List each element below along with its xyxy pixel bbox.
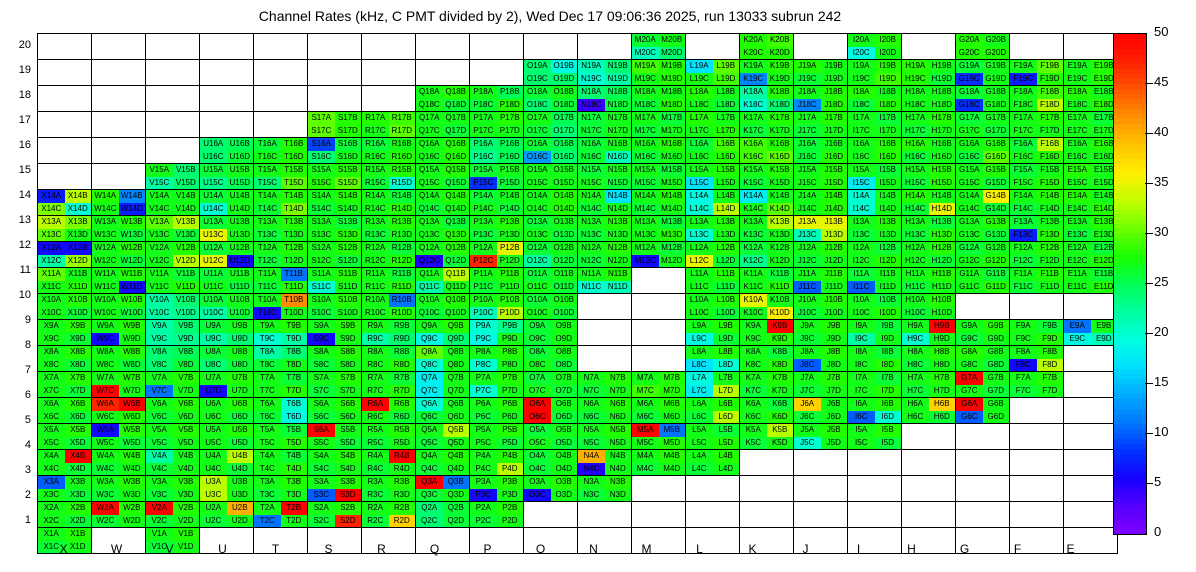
heatmap-cell[interactable]: S3AS3BS3CS3D	[308, 476, 362, 502]
heatmap-cell[interactable]	[956, 476, 1010, 502]
heatmap-cell[interactable]	[956, 450, 1010, 476]
heatmap-cell[interactable]: U11AU11BU11CU11D	[200, 268, 254, 294]
heatmap-cell[interactable]	[1064, 346, 1118, 372]
heatmap-cell[interactable]	[740, 450, 794, 476]
heatmap-cell[interactable]: R16AR16BR16CR16D	[362, 138, 416, 164]
heatmap-cell[interactable]: E14AE14BE14CE14D	[1064, 190, 1118, 216]
heatmap-cell[interactable]: R10AR10BR10CR10D	[362, 294, 416, 320]
heatmap-cell[interactable]: I14AI14BI14CI14D	[848, 190, 902, 216]
heatmap-cell[interactable]: E9AE9BE9CE9D	[1064, 320, 1118, 346]
heatmap-cell[interactable]: M16AM16BM16CM16D	[632, 138, 686, 164]
heatmap-cell[interactable]	[254, 112, 308, 138]
heatmap-cell[interactable]: S9AS9BS9CS9D	[308, 320, 362, 346]
heatmap-cell[interactable]: N19AN19BN19CN19D	[578, 60, 632, 86]
heatmap-cell[interactable]: U14AU14BU14CU14D	[200, 190, 254, 216]
heatmap-cell[interactable]: H15AH15BH15CH15D	[902, 164, 956, 190]
heatmap-cell[interactable]: W2AW2BW2CW2D	[92, 502, 146, 528]
heatmap-cell[interactable]: I9AI9BI9CI9D	[848, 320, 902, 346]
heatmap-cell[interactable]: G12AG12BG12CG12D	[956, 242, 1010, 268]
heatmap-cell[interactable]	[362, 86, 416, 112]
heatmap-cell[interactable]: I19AI19BI19CI19D	[848, 60, 902, 86]
heatmap-cell[interactable]: V8AV8BV8CV8D	[146, 346, 200, 372]
heatmap-cell[interactable]: O5AO5BO5CO5D	[524, 424, 578, 450]
heatmap-cell[interactable]: O13AO13BO13CO13D	[524, 216, 578, 242]
heatmap-cell[interactable]	[38, 112, 92, 138]
heatmap-cell[interactable]: V11AV11BV11CV11D	[146, 268, 200, 294]
heatmap-cell[interactable]: P18AP18BP18CP18D	[470, 86, 524, 112]
heatmap-cell[interactable]	[578, 502, 632, 528]
heatmap-cell[interactable]: P2AP2BP2CP2D	[470, 502, 524, 528]
heatmap-cell[interactable]	[254, 86, 308, 112]
heatmap-cell[interactable]: F15AF15BF15CF15D	[1010, 164, 1064, 190]
heatmap-cell[interactable]: Q14AQ14BQ14CQ14D	[416, 190, 470, 216]
heatmap-cell[interactable]: X2AX2BX2CX2D	[38, 502, 92, 528]
heatmap-cell[interactable]	[1064, 424, 1118, 450]
heatmap-cell[interactable]: X14AX14BX14CX14D	[38, 190, 92, 216]
heatmap-cell[interactable]	[92, 164, 146, 190]
heatmap-cell[interactable]: P3AP3BP3CP3D	[470, 476, 524, 502]
heatmap-cell[interactable]: P16AP16BP16CP16D	[470, 138, 524, 164]
heatmap-cell[interactable]: I6AI6BI6CI6D	[848, 398, 902, 424]
heatmap-cell[interactable]: K17AK17BK17CK17D	[740, 112, 794, 138]
heatmap-cell[interactable]: K16AK16BK16CK16D	[740, 138, 794, 164]
heatmap-cell[interactable]: O16AO16BO16CO16D	[524, 138, 578, 164]
heatmap-cell[interactable]: T16AT16BT16CT16D	[254, 138, 308, 164]
heatmap-cell[interactable]: R4AR4BR4CR4D	[362, 450, 416, 476]
heatmap-cell[interactable]	[686, 502, 740, 528]
heatmap-cell[interactable]: R6AR6BR6CR6D	[362, 398, 416, 424]
heatmap-cell[interactable]: I13AI13BI13CI13D	[848, 216, 902, 242]
heatmap-cell[interactable]: P13AP13BP13CP13D	[470, 216, 524, 242]
heatmap-cell[interactable]: R5AR5BR5CR5D	[362, 424, 416, 450]
heatmap-cell[interactable]: O8AO8BO8CO8D	[524, 346, 578, 372]
heatmap-cell[interactable]: V6AV6BV6CV6D	[146, 398, 200, 424]
heatmap-cell[interactable]: P9AP9BP9CP9D	[470, 320, 524, 346]
heatmap-cell[interactable]: W14AW14BW14CW14D	[92, 190, 146, 216]
heatmap-cell[interactable]: G11AG11BG11CG11D	[956, 268, 1010, 294]
heatmap-cell[interactable]	[92, 86, 146, 112]
heatmap-cell[interactable]: U10AU10BU10CU10D	[200, 294, 254, 320]
heatmap-cell[interactable]: V9AV9BV9CV9D	[146, 320, 200, 346]
heatmap-cell[interactable]: H7AH7BH7CH7D	[902, 372, 956, 398]
heatmap-cell[interactable]: N13AN13BN13CN13D	[578, 216, 632, 242]
heatmap-cell[interactable]	[254, 34, 308, 60]
heatmap-cell[interactable]: Q9AQ9BQ9CQ9D	[416, 320, 470, 346]
heatmap-cell[interactable]: I5AI5BI5CI5D	[848, 424, 902, 450]
heatmap-cell[interactable]: J15AJ15BJ15CJ15D	[794, 164, 848, 190]
heatmap-cell[interactable]: X9AX9BX9CX9D	[38, 320, 92, 346]
heatmap-cell[interactable]: F13AF13BF13CF13D	[1010, 216, 1064, 242]
heatmap-cell[interactable]: R9AR9BR9CR9D	[362, 320, 416, 346]
heatmap-cell[interactable]: V4AV4BV4CV4D	[146, 450, 200, 476]
heatmap-cell[interactable]	[902, 450, 956, 476]
heatmap-cell[interactable]	[1064, 398, 1118, 424]
heatmap-cell[interactable]: J19AJ19BJ19CJ19D	[794, 60, 848, 86]
heatmap-cell[interactable]: H8AH8BH8CH8D	[902, 346, 956, 372]
heatmap-cell[interactable]	[1010, 424, 1064, 450]
heatmap-cell[interactable]: Q18AQ18BQ18CQ18D	[416, 86, 470, 112]
heatmap-cell[interactable]: J18AJ18BJ18CJ18D	[794, 86, 848, 112]
heatmap-cell[interactable]: I15AI15BI15CI15D	[848, 164, 902, 190]
heatmap-cell[interactable]: I11AI11BI11CI11D	[848, 268, 902, 294]
heatmap-cell[interactable]	[794, 34, 848, 60]
heatmap-cell[interactable]: L7AL7BL7CL7D	[686, 372, 740, 398]
heatmap-cell[interactable]	[308, 60, 362, 86]
heatmap-cell[interactable]: S13AS13BS13CS13D	[308, 216, 362, 242]
heatmap-cell[interactable]: M19AM19BM19CM19D	[632, 60, 686, 86]
heatmap-cell[interactable]	[848, 476, 902, 502]
heatmap-cell[interactable]	[956, 424, 1010, 450]
heatmap-cell[interactable]: Q7AQ7BQ7CQ7D	[416, 372, 470, 398]
heatmap-cell[interactable]	[1010, 34, 1064, 60]
heatmap-cell[interactable]	[902, 502, 956, 528]
heatmap-cell[interactable]: G20AG20BG20CG20D	[956, 34, 1010, 60]
heatmap-cell[interactable]: M17AM17BM17CM17D	[632, 112, 686, 138]
heatmap-cell[interactable]	[146, 60, 200, 86]
heatmap-cell[interactable]: G8AG8BG8CG8D	[956, 346, 1010, 372]
heatmap-cell[interactable]: P4AP4BP4CP4D	[470, 450, 524, 476]
heatmap-cell[interactable]: R11AR11BR11CR11D	[362, 268, 416, 294]
heatmap-cell[interactable]: L4AL4BL4CL4D	[686, 450, 740, 476]
heatmap-cell[interactable]: O12AO12BO12CO12D	[524, 242, 578, 268]
heatmap-cell[interactable]	[740, 476, 794, 502]
heatmap-cell[interactable]: V2AV2BV2CV2D	[146, 502, 200, 528]
heatmap-cell[interactable]	[38, 86, 92, 112]
heatmap-cell[interactable]	[794, 450, 848, 476]
heatmap-cell[interactable]: Q5AQ5BQ5CQ5D	[416, 424, 470, 450]
heatmap-cell[interactable]: S12AS12BS12CS12D	[308, 242, 362, 268]
heatmap-cell[interactable]	[632, 320, 686, 346]
heatmap-cell[interactable]	[308, 86, 362, 112]
heatmap-cell[interactable]: R3AR3BR3CR3D	[362, 476, 416, 502]
heatmap-cell[interactable]: O4AO4BO4CO4D	[524, 450, 578, 476]
heatmap-cell[interactable]: S14AS14BS14CS14D	[308, 190, 362, 216]
heatmap-cell[interactable]: Q15AQ15BQ15CQ15D	[416, 164, 470, 190]
heatmap-cell[interactable]: L8AL8BL8CL8D	[686, 346, 740, 372]
heatmap-cell[interactable]: K7AK7BK7CK7D	[740, 372, 794, 398]
heatmap-cell[interactable]: V3AV3BV3CV3D	[146, 476, 200, 502]
heatmap-cell[interactable]: M12AM12BM12CM12D	[632, 242, 686, 268]
heatmap-cell[interactable]	[578, 346, 632, 372]
heatmap-cell[interactable]: K8AK8BK8CK8D	[740, 346, 794, 372]
heatmap-cell[interactable]	[416, 34, 470, 60]
heatmap-cell[interactable]: R13AR13BR13CR13D	[362, 216, 416, 242]
heatmap-cell[interactable]: M14AM14BM14CM14D	[632, 190, 686, 216]
heatmap-cell[interactable]: K11AK11BK11CK11D	[740, 268, 794, 294]
heatmap-cell[interactable]: N16AN16BN16CN16D	[578, 138, 632, 164]
heatmap-cell[interactable]: S6AS6BS6CS6D	[308, 398, 362, 424]
heatmap-cell[interactable]: V7AV7BV7CV7D	[146, 372, 200, 398]
heatmap-cell[interactable]: K6AK6BK6CK6D	[740, 398, 794, 424]
heatmap-cell[interactable]: E17AE17BE17CE17D	[1064, 112, 1118, 138]
heatmap-cell[interactable]	[1010, 502, 1064, 528]
heatmap-cell[interactable]: L10AL10BL10CL10D	[686, 294, 740, 320]
heatmap-cell[interactable]: O10AO10BO10CO10D	[524, 294, 578, 320]
heatmap-cell[interactable]	[146, 34, 200, 60]
heatmap-cell[interactable]	[1064, 34, 1118, 60]
heatmap-cell[interactable]	[38, 138, 92, 164]
heatmap-cell[interactable]: W8AW8BW8CW8D	[92, 346, 146, 372]
heatmap-cell[interactable]	[146, 86, 200, 112]
heatmap-cell[interactable]	[794, 476, 848, 502]
heatmap-cell[interactable]: S10AS10BS10CS10D	[308, 294, 362, 320]
heatmap-cell[interactable]: L19AL19BL19CL19D	[686, 60, 740, 86]
heatmap-cell[interactable]	[92, 34, 146, 60]
heatmap-cell[interactable]: Q17AQ17BQ17CQ17D	[416, 112, 470, 138]
heatmap-cell[interactable]: F17AF17BF17CF17D	[1010, 112, 1064, 138]
heatmap-cell[interactable]: G18AG18BG18CG18D	[956, 86, 1010, 112]
heatmap-cell[interactable]: G16AG16BG16CG16D	[956, 138, 1010, 164]
heatmap-cell[interactable]: N17AN17BN17CN17D	[578, 112, 632, 138]
heatmap-cell[interactable]: W10AW10BW10CW10D	[92, 294, 146, 320]
heatmap-cell[interactable]	[1010, 398, 1064, 424]
heatmap-cell[interactable]: T15AT15BT15CT15D	[254, 164, 308, 190]
heatmap-cell[interactable]: H11AH11BH11CH11D	[902, 268, 956, 294]
heatmap-cell[interactable]: R12AR12BR12CR12D	[362, 242, 416, 268]
heatmap-cell[interactable]: I7AI7BI7CI7D	[848, 372, 902, 398]
heatmap-cell[interactable]: F7AF7BF7CF7D	[1010, 372, 1064, 398]
heatmap-cell[interactable]: K9AK9BK9CK9D	[740, 320, 794, 346]
heatmap-cell[interactable]: O6AO6BO6CO6D	[524, 398, 578, 424]
heatmap-cell[interactable]: N15AN15BN15CN15D	[578, 164, 632, 190]
heatmap-cell[interactable]: P14AP14BP14CP14D	[470, 190, 524, 216]
heatmap-cell[interactable]: O14AO14BO14CO14D	[524, 190, 578, 216]
heatmap-cell[interactable]: X8AX8BX8CX8D	[38, 346, 92, 372]
heatmap-cell[interactable]: H13AH13BH13CH13D	[902, 216, 956, 242]
heatmap-cell[interactable]: T3AT3BT3CT3D	[254, 476, 308, 502]
heatmap-cell[interactable]: T12AT12BT12CT12D	[254, 242, 308, 268]
heatmap-cell[interactable]: N4AN4BN4CN4D	[578, 450, 632, 476]
heatmap-cell[interactable]: W4AW4BW4CW4D	[92, 450, 146, 476]
heatmap-cell[interactable]: F18AF18BF18CF18D	[1010, 86, 1064, 112]
heatmap-cell[interactable]: W5AW5BW5CW5D	[92, 424, 146, 450]
heatmap-cell[interactable]: U8AU8BU8CU8D	[200, 346, 254, 372]
heatmap-cell[interactable]: I10AI10BI10CI10D	[848, 294, 902, 320]
heatmap-cell[interactable]: W7AW7BW7CW7D	[92, 372, 146, 398]
heatmap-cell[interactable]	[38, 164, 92, 190]
heatmap-cell[interactable]: O11AO11BO11CO11D	[524, 268, 578, 294]
heatmap-cell[interactable]	[92, 112, 146, 138]
heatmap-cell[interactable]: O7AO7BO7CO7D	[524, 372, 578, 398]
heatmap-cell[interactable]: T13AT13BT13CT13D	[254, 216, 308, 242]
heatmap-cell[interactable]	[686, 476, 740, 502]
heatmap-cell[interactable]: G7AG7BG7CG7D	[956, 372, 1010, 398]
heatmap-cell[interactable]: E13AE13BE13CE13D	[1064, 216, 1118, 242]
heatmap-cell[interactable]: U12AU12BU12CU12D	[200, 242, 254, 268]
heatmap-cell[interactable]	[848, 502, 902, 528]
heatmap-cell[interactable]: V10AV10BV10CV10D	[146, 294, 200, 320]
heatmap-cell[interactable]: Q2AQ2BQ2CQ2D	[416, 502, 470, 528]
heatmap-cell[interactable]: N11AN11BN11CN11D	[578, 268, 632, 294]
heatmap-cell[interactable]: W13AW13BW13CW13D	[92, 216, 146, 242]
heatmap-cell[interactable]	[1010, 294, 1064, 320]
heatmap-cell[interactable]: K15AK15BK15CK15D	[740, 164, 794, 190]
heatmap-cell[interactable]: O17AO17BO17CO17D	[524, 112, 578, 138]
heatmap-cell[interactable]	[902, 34, 956, 60]
heatmap-cell[interactable]: X11AX11BX11CX11D	[38, 268, 92, 294]
heatmap-cell[interactable]: M13AM13BM13CM13D	[632, 216, 686, 242]
heatmap-cell[interactable]: J8AJ8BJ8CJ8D	[794, 346, 848, 372]
heatmap-cell[interactable]	[902, 424, 956, 450]
heatmap-cell[interactable]: Q4AQ4BQ4CQ4D	[416, 450, 470, 476]
heatmap-cell[interactable]: F19AF19BF19CF19D	[1010, 60, 1064, 86]
heatmap-cell[interactable]: S2AS2BS2CS2D	[308, 502, 362, 528]
heatmap-cell[interactable]: F14AF14BF14CF14D	[1010, 190, 1064, 216]
heatmap-cell[interactable]	[362, 60, 416, 86]
heatmap-cell[interactable]: J12AJ12BJ12CJ12D	[794, 242, 848, 268]
heatmap-cell[interactable]: K5AK5BK5CK5D	[740, 424, 794, 450]
heatmap-cell[interactable]: K12AK12BK12CK12D	[740, 242, 794, 268]
heatmap-cell[interactable]	[362, 34, 416, 60]
heatmap-cell[interactable]: L6AL6BL6CL6D	[686, 398, 740, 424]
heatmap-cell[interactable]: N18AN18BN18CN18D	[578, 86, 632, 112]
heatmap-cell[interactable]	[578, 294, 632, 320]
heatmap-cell[interactable]: T11AT11BT11CT11D	[254, 268, 308, 294]
heatmap-cell[interactable]: P5AP5BP5CP5D	[470, 424, 524, 450]
heatmap-cell[interactable]: P6AP6BP6CP6D	[470, 398, 524, 424]
heatmap-cell[interactable]: P15AP15BP15CP15D	[470, 164, 524, 190]
heatmap-cell[interactable]: I20AI20BI20CI20D	[848, 34, 902, 60]
heatmap-cell[interactable]: L17AL17BL17CL17D	[686, 112, 740, 138]
heatmap-cell[interactable]: I18AI18BI18CI18D	[848, 86, 902, 112]
heatmap-cell[interactable]: S15AS15BS15CS15D	[308, 164, 362, 190]
heatmap-cell[interactable]: G19AG19BG19CG19D	[956, 60, 1010, 86]
heatmap-cell[interactable]: U4AU4BU4CU4D	[200, 450, 254, 476]
heatmap-cell[interactable]: M15AM15BM15CM15D	[632, 164, 686, 190]
heatmap-cell[interactable]: U3AU3BU3CU3D	[200, 476, 254, 502]
heatmap-cell[interactable]: M6AM6BM6CM6D	[632, 398, 686, 424]
heatmap-cell[interactable]: N5AN5BN5CN5D	[578, 424, 632, 450]
heatmap-cell[interactable]: P8AP8BP8CP8D	[470, 346, 524, 372]
heatmap-cell[interactable]: H17AH17BH17CH17D	[902, 112, 956, 138]
heatmap-cell[interactable]	[38, 34, 92, 60]
heatmap-cell[interactable]: E18AE18BE18CE18D	[1064, 86, 1118, 112]
heatmap-cell[interactable]: N6AN6BN6CN6D	[578, 398, 632, 424]
heatmap-cell[interactable]	[632, 294, 686, 320]
heatmap-cell[interactable]: R8AR8BR8CR8D	[362, 346, 416, 372]
heatmap-cell[interactable]	[578, 320, 632, 346]
heatmap-cell[interactable]: E19AE19BE19CE19D	[1064, 60, 1118, 86]
heatmap-cell[interactable]	[956, 502, 1010, 528]
heatmap-cell[interactable]: I16AI16BI16CI16D	[848, 138, 902, 164]
heatmap-cell[interactable]: L13AL13BL13CL13D	[686, 216, 740, 242]
heatmap-cell[interactable]: V13AV13BV13CV13D	[146, 216, 200, 242]
heatmap-cell[interactable]: U5AU5BU5CU5D	[200, 424, 254, 450]
heatmap-cell[interactable]	[632, 502, 686, 528]
heatmap-cell[interactable]: J10AJ10BJ10CJ10D	[794, 294, 848, 320]
heatmap-cell[interactable]: P11AP11BP11CP11D	[470, 268, 524, 294]
heatmap-cell[interactable]	[92, 138, 146, 164]
heatmap-cell[interactable]: L14AL14BL14CL14D	[686, 190, 740, 216]
heatmap-cell[interactable]: U13AU13BU13CU13D	[200, 216, 254, 242]
heatmap-cell[interactable]: G17AG17BG17CG17D	[956, 112, 1010, 138]
heatmap-cell[interactable]: Q13AQ13BQ13CQ13D	[416, 216, 470, 242]
heatmap-cell[interactable]	[524, 502, 578, 528]
heatmap-cell[interactable]: V15AV15BV15CV15D	[146, 164, 200, 190]
heatmap-cell[interactable]: U2AU2BU2CU2D	[200, 502, 254, 528]
heatmap-cell[interactable]: J17AJ17BJ17CJ17D	[794, 112, 848, 138]
heatmap-cell[interactable]: K18AK18BK18CK18D	[740, 86, 794, 112]
heatmap-cell[interactable]: T10AT10BT10CT10D	[254, 294, 308, 320]
heatmap-cell[interactable]: S4AS4BS4CS4D	[308, 450, 362, 476]
heatmap-cell[interactable]: M4AM4BM4CM4D	[632, 450, 686, 476]
heatmap-cell[interactable]: Q6AQ6BQ6CQ6D	[416, 398, 470, 424]
heatmap-cell[interactable]: H6AH6BH6CH6D	[902, 398, 956, 424]
heatmap-cell[interactable]: N7AN7BN7CN7D	[578, 372, 632, 398]
heatmap-cell[interactable]: J14AJ14BJ14CJ14D	[794, 190, 848, 216]
heatmap-cell[interactable]: W9AW9BW9CW9D	[92, 320, 146, 346]
heatmap-cell[interactable]: S11AS11BS11CS11D	[308, 268, 362, 294]
heatmap-cell[interactable]: V14AV14BV14CV14D	[146, 190, 200, 216]
heatmap-cell[interactable]: F9AF9BF9CF9D	[1010, 320, 1064, 346]
heatmap-cell[interactable]: L15AL15BL15CL15D	[686, 164, 740, 190]
heatmap-cell[interactable]: T5AT5BT5CT5D	[254, 424, 308, 450]
heatmap-cell[interactable]: I12AI12BI12CI12D	[848, 242, 902, 268]
heatmap-cell[interactable]: X10AX10BX10CX10D	[38, 294, 92, 320]
heatmap-cell[interactable]: O19AO19BO19CO19D	[524, 60, 578, 86]
heatmap-cell[interactable]: E16AE16BE16CE16D	[1064, 138, 1118, 164]
heatmap-cell[interactable]: U6AU6BU6CU6D	[200, 398, 254, 424]
heatmap-cell[interactable]	[686, 34, 740, 60]
heatmap-cell[interactable]	[794, 502, 848, 528]
heatmap-cell[interactable]: G9AG9BG9CG9D	[956, 320, 1010, 346]
heatmap-cell[interactable]: L9AL9BL9CL9D	[686, 320, 740, 346]
heatmap-cell[interactable]	[200, 34, 254, 60]
heatmap-cell[interactable]: L11AL11BL11CL11D	[686, 268, 740, 294]
heatmap-cell[interactable]	[1064, 502, 1118, 528]
heatmap-cell[interactable]	[848, 450, 902, 476]
heatmap-cell[interactable]: T8AT8BT8CT8D	[254, 346, 308, 372]
heatmap-cell[interactable]: H18AH18BH18CH18D	[902, 86, 956, 112]
heatmap-cell[interactable]: G6AG6BG6CG6D	[956, 398, 1010, 424]
heatmap-cell[interactable]: K19AK19BK19CK19D	[740, 60, 794, 86]
heatmap-cell[interactable]: Q16AQ16BQ16CQ16D	[416, 138, 470, 164]
heatmap-cell[interactable]	[200, 86, 254, 112]
heatmap-cell[interactable]	[200, 112, 254, 138]
heatmap-cell[interactable]: S5AS5BS5CS5D	[308, 424, 362, 450]
heatmap-cell[interactable]: E11AE11BE11CE11D	[1064, 268, 1118, 294]
heatmap-cell[interactable]: N12AN12BN12CN12D	[578, 242, 632, 268]
heatmap-cell[interactable]	[146, 138, 200, 164]
heatmap-cell[interactable]	[632, 476, 686, 502]
heatmap-cell[interactable]: T6AT6BT6CT6D	[254, 398, 308, 424]
heatmap-cell[interactable]: U7AU7BU7CU7D	[200, 372, 254, 398]
heatmap-cell[interactable]: F12AF12BF12CF12D	[1010, 242, 1064, 268]
heatmap-cell[interactable]	[1064, 450, 1118, 476]
heatmap-cell[interactable]	[470, 60, 524, 86]
heatmap-cell[interactable]: I17AI17BI17CI17D	[848, 112, 902, 138]
heatmap-cell[interactable]	[740, 502, 794, 528]
heatmap-cell[interactable]: W6AW6BW6CW6D	[92, 398, 146, 424]
heatmap-cell[interactable]	[92, 60, 146, 86]
heatmap-cell[interactable]: U15AU15BU15CU15D	[200, 164, 254, 190]
heatmap-cell[interactable]: G13AG13BG13CG13D	[956, 216, 1010, 242]
heatmap-cell[interactable]: V5AV5BV5CV5D	[146, 424, 200, 450]
heatmap-cell[interactable]: M18AM18BM18CM18D	[632, 86, 686, 112]
heatmap-cell[interactable]: G15AG15BG15CG15D	[956, 164, 1010, 190]
heatmap-cell[interactable]: O18AO18BO18CO18D	[524, 86, 578, 112]
heatmap-cell[interactable]: L18AL18BL18CL18D	[686, 86, 740, 112]
heatmap-cell[interactable]: X12AX12BX12CX12D	[38, 242, 92, 268]
heatmap-cell[interactable]: O15AO15BO15CO15D	[524, 164, 578, 190]
heatmap-cell[interactable]: O9AO9BO9CO9D	[524, 320, 578, 346]
heatmap-cell[interactable]: H14AH14BH14CH14D	[902, 190, 956, 216]
heatmap-cell[interactable]: X13AX13BX13CX13D	[38, 216, 92, 242]
heatmap-cell[interactable]: P7AP7BP7CP7D	[470, 372, 524, 398]
heatmap-cell[interactable]	[1010, 476, 1064, 502]
heatmap-cell[interactable]: R2AR2BR2CR2D	[362, 502, 416, 528]
heatmap-cell[interactable]: S8AS8BS8CS8D	[308, 346, 362, 372]
